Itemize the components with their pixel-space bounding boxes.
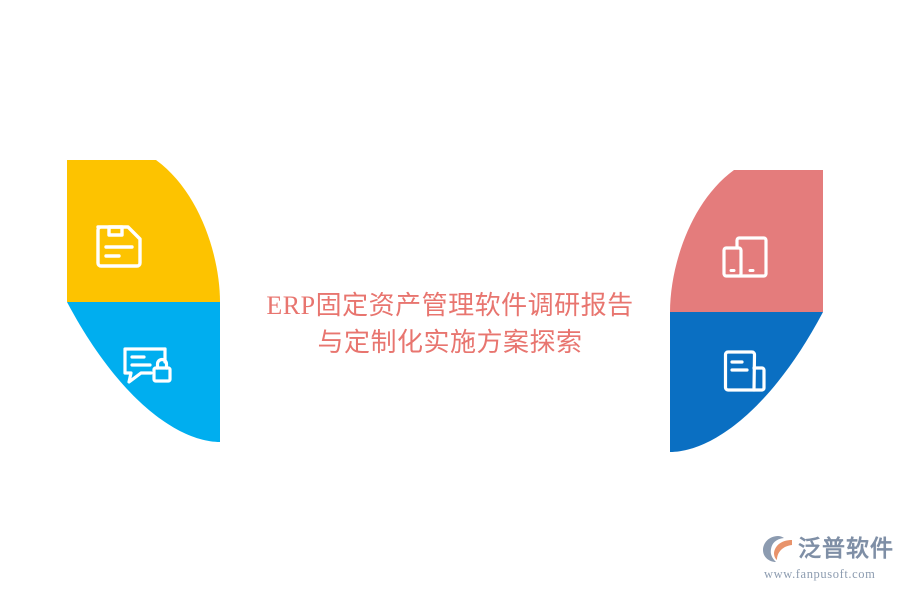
left-leaf-graphic: [60, 152, 230, 452]
page-title: ERP固定资产管理软件调研报告 与定制化实施方案探索: [250, 288, 650, 362]
devices-icon: [718, 232, 772, 286]
cover-canvas: ERP固定资产管理软件调研报告 与定制化实施方案探索 泛普软件 www.fanp…: [0, 0, 900, 600]
document-save-icon: [92, 218, 146, 272]
chat-lock-icon: [120, 338, 174, 392]
watermark-brand-name: 泛普软件: [798, 538, 894, 561]
right-leaf-graphic: [670, 162, 840, 462]
watermark-url: www.fanpusoft.com: [764, 567, 875, 582]
watermark-logo: 泛普软件 www.fanpusoft.com: [762, 534, 894, 586]
book-page-icon: [718, 344, 772, 398]
fanpu-logo-icon: [762, 534, 794, 564]
watermark-row: 泛普软件: [762, 534, 894, 564]
